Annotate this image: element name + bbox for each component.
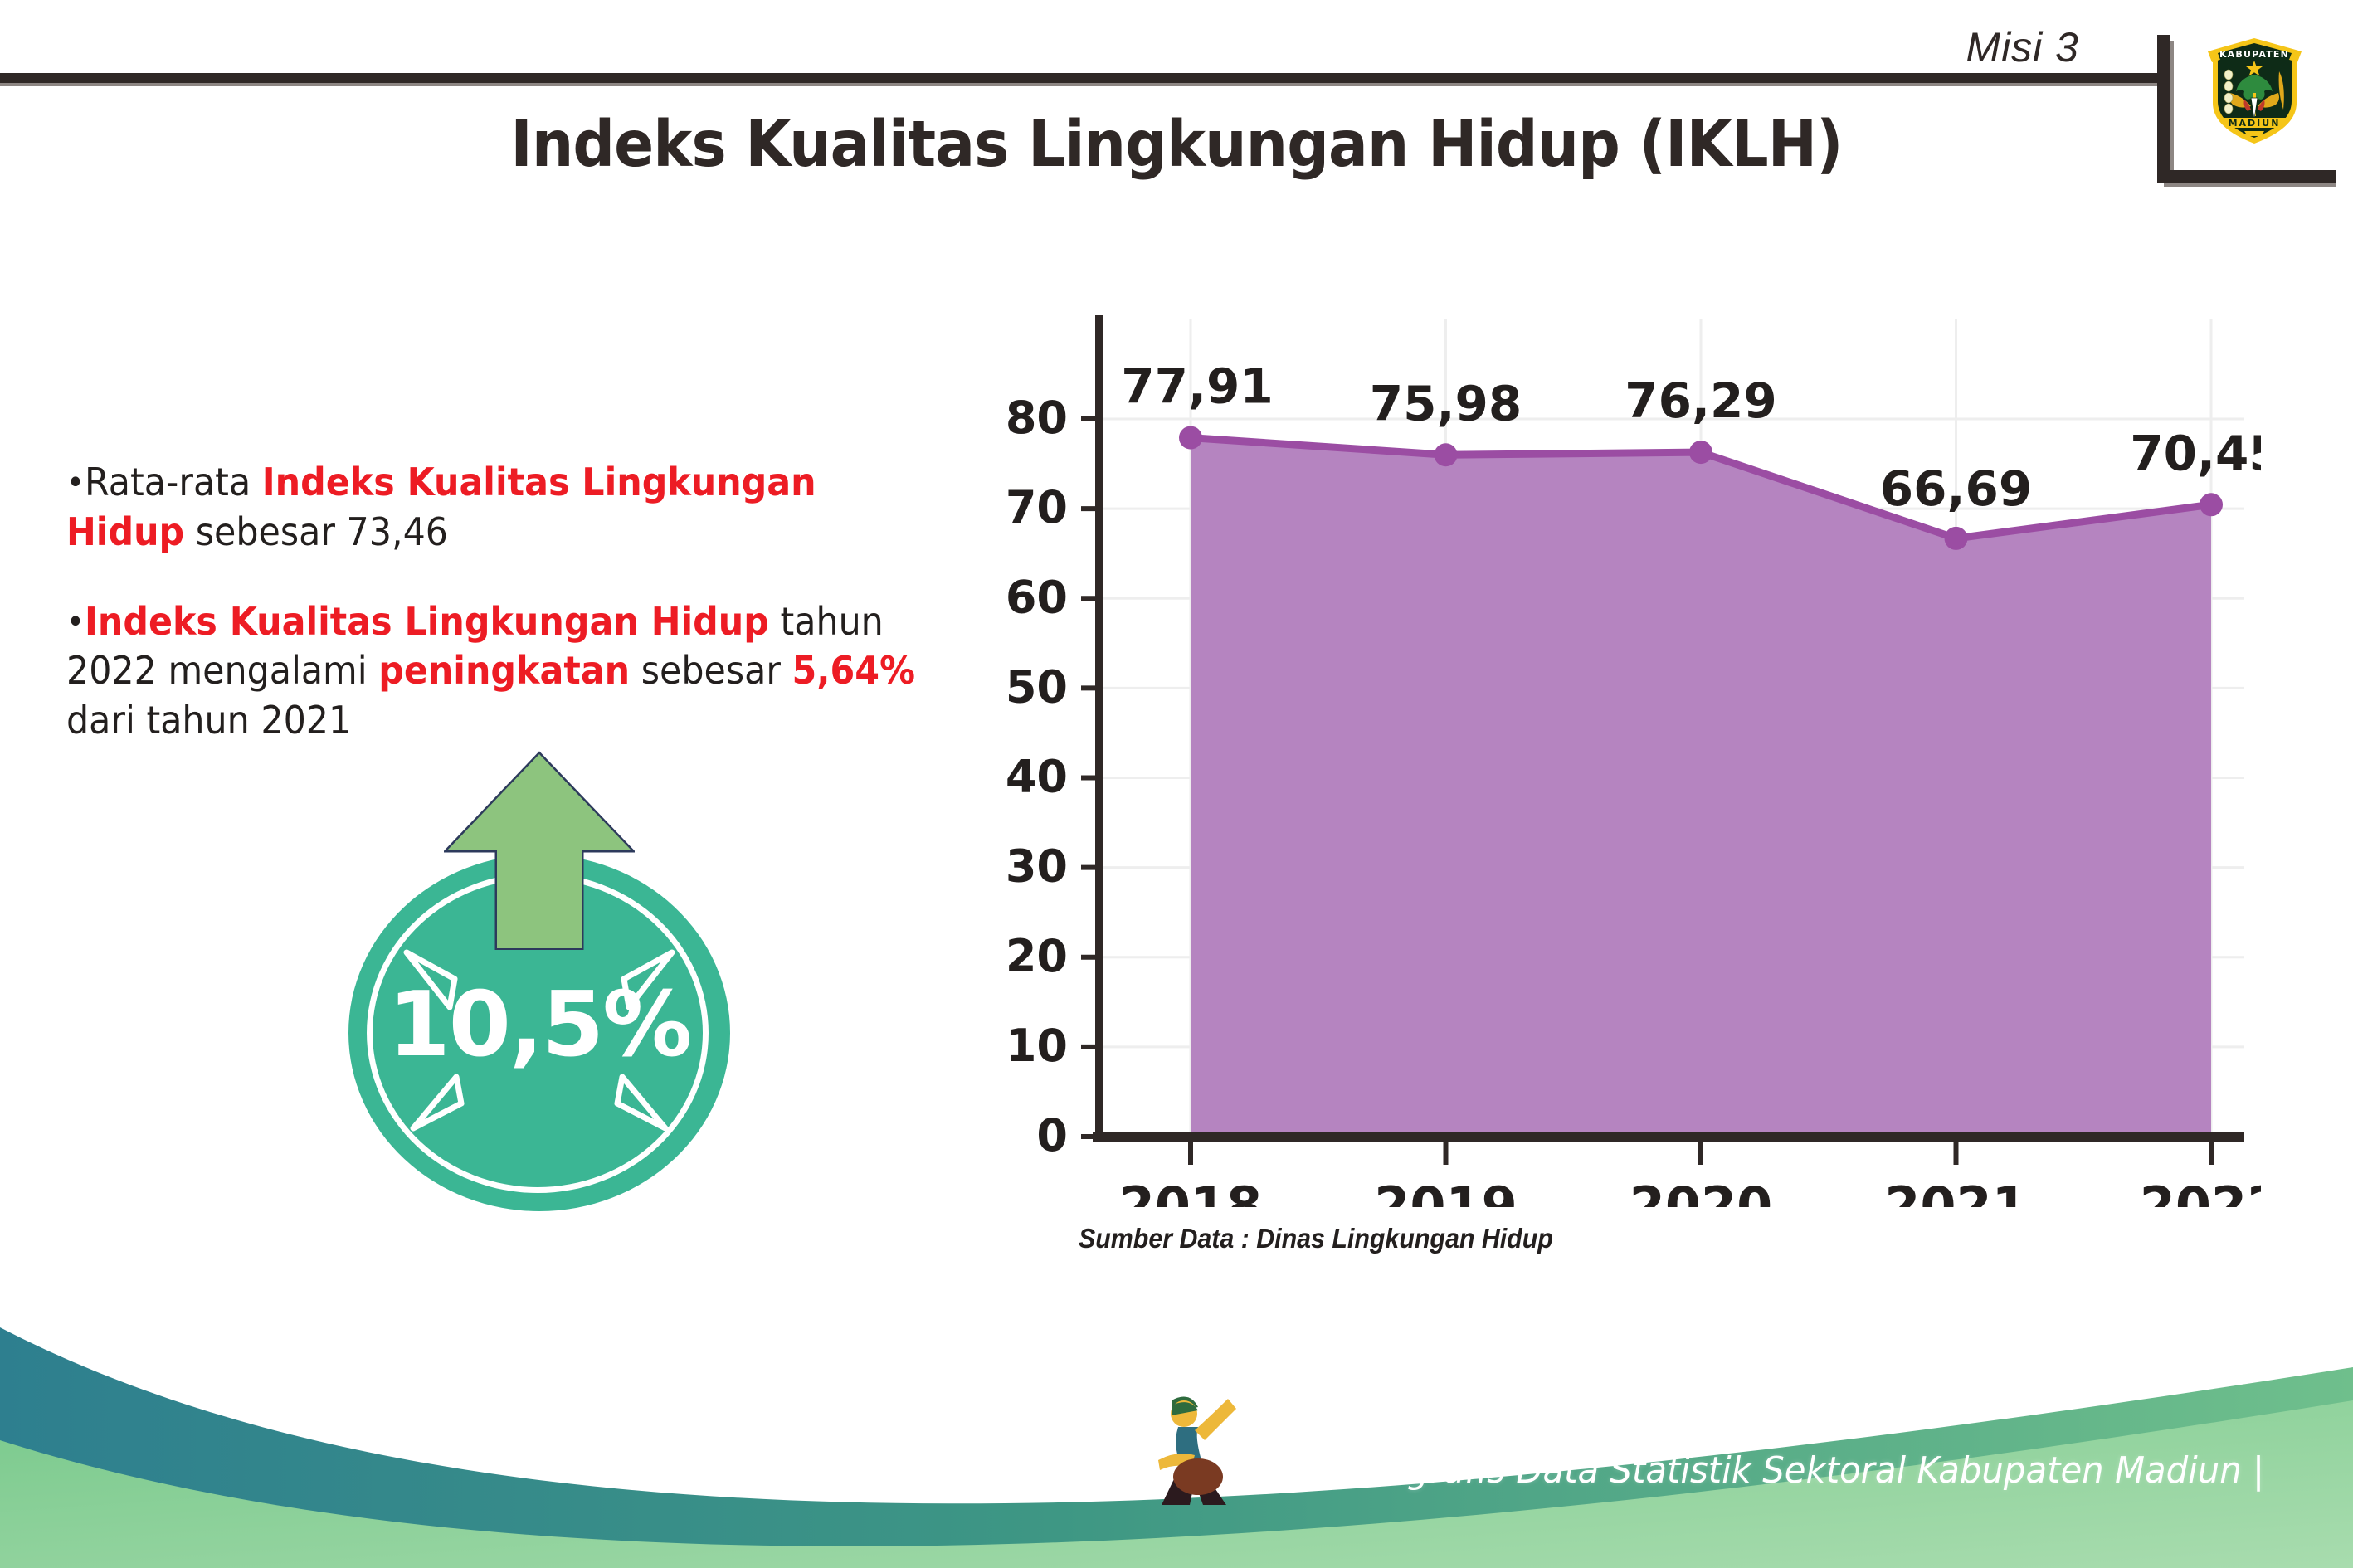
badge-percent-value: 10,5% [348,973,730,1077]
svg-text:2018: 2018 [1119,1176,1263,1207]
list-item: •Rata-rata Indeks Kualitas Lingkungan Hi… [66,458,923,558]
bullet-2-part-5: 5,64% [792,648,915,693]
infographic-slide: Misi 3 KABUPATEN MADIUN [0,0,2353,1568]
bullet-1-part-1: Rata-rata [85,460,262,504]
iklh-area-chart: 010203040506070802018201920202021202277,… [967,295,2261,1207]
svg-text:KABUPATEN: KABUPATEN [2219,49,2289,60]
data-label: 77,91 [1121,358,1273,415]
svg-text:50: 50 [1006,660,1068,713]
bullet-2-part-4: sebesar [630,648,792,693]
increase-badge: 10,5% [332,751,747,1211]
svg-text:80: 80 [1006,392,1068,444]
data-label: 76,29 [1625,373,1776,429]
bullet-1-part-3: sebesar 73,46 [184,509,448,554]
data-label: 70,45 [2130,425,2261,481]
list-item: •Indeks Kualitas Lingkungan Hidup tahun … [66,597,923,746]
bullet-2-part-6: dari tahun 2021 [66,698,351,743]
bullet-list: •Rata-rata Indeks Kualitas Lingkungan Hi… [66,458,987,786]
svg-text:2020: 2020 [1630,1176,1773,1207]
bullet-dot: • [66,464,85,502]
bullet-2-part-1: Indeks Kualitas Lingkungan Hidup [85,599,769,644]
mission-label: Misi 3 [1966,23,2079,71]
svg-text:10: 10 [1006,1020,1068,1072]
chart-source-note: Sumber Data : Dinas Lingkungan Hidup [1079,1223,1553,1254]
svg-text:70: 70 [1006,481,1068,533]
svg-text:2019: 2019 [1374,1176,1518,1207]
bullet-dot: • [66,603,85,641]
page-title: Indeks Kualitas Lingkungan Hidup (IKLH) [94,108,2258,182]
svg-text:20: 20 [1006,930,1068,982]
footer-caption: Media Infografis Data Statistik Sektoral… [1226,1449,2264,1492]
data-label: 75,98 [1370,375,1522,431]
svg-text:40: 40 [1006,751,1068,803]
svg-text:2022: 2022 [2140,1176,2261,1207]
svg-text:60: 60 [1006,571,1068,623]
header-rule [0,73,2168,83]
svg-text:2021: 2021 [1884,1176,2028,1207]
bullet-2-part-3: peningkatan [378,648,630,693]
svg-text:0: 0 [1036,1109,1068,1161]
svg-text:30: 30 [1006,840,1068,893]
data-label: 66,69 [1880,460,2032,517]
up-arrow-icon [444,751,635,950]
